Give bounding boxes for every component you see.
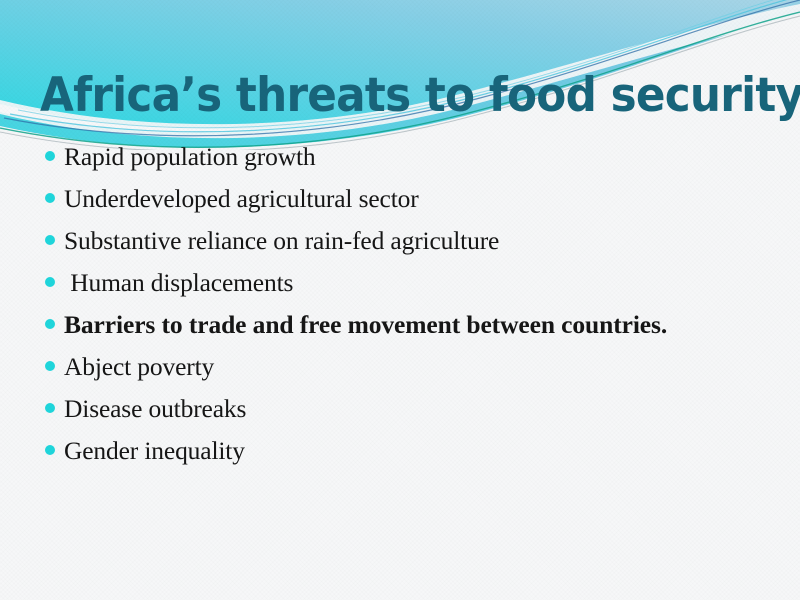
bullet-dot-icon — [38, 180, 64, 203]
list-item-label: Gender inequality — [64, 432, 773, 470]
bullet-dot-icon — [38, 306, 64, 329]
list-item: Abject poverty — [38, 348, 773, 386]
list-item: Substantive reliance on rain-fed agricul… — [38, 222, 773, 260]
list-item: Underdeveloped agricultural sector — [38, 180, 773, 218]
bullet-dot-icon — [38, 138, 64, 161]
presentation-slide: Africa’s threats to food security Rapid … — [0, 0, 800, 600]
bullet-dot-icon — [38, 432, 64, 455]
bullet-dot-icon — [38, 222, 64, 245]
list-item: Disease outbreaks — [38, 390, 773, 428]
list-item-label: Barriers to trade and free movement betw… — [64, 306, 689, 344]
bullet-dot-icon — [38, 390, 64, 413]
slide-title: Africa’s threats to food security — [40, 68, 719, 124]
bullet-dot-icon — [38, 264, 64, 287]
list-item: Human displacements — [38, 264, 773, 302]
list-item: Gender inequality — [38, 432, 773, 470]
bullet-dot-icon — [38, 348, 64, 371]
list-item-label: Rapid population growth — [64, 138, 773, 176]
list-item-label: Abject poverty — [64, 348, 773, 386]
list-item-label: Disease outbreaks — [64, 390, 773, 428]
list-item-label: Underdeveloped agricultural sector — [64, 180, 773, 218]
bullet-list: Rapid population growth Underdeveloped a… — [38, 138, 773, 474]
list-item-label: Human displacements — [64, 264, 773, 302]
list-item-label: Substantive reliance on rain-fed agricul… — [64, 222, 773, 260]
list-item: Barriers to trade and free movement betw… — [38, 306, 773, 344]
list-item: Rapid population growth — [38, 138, 773, 176]
